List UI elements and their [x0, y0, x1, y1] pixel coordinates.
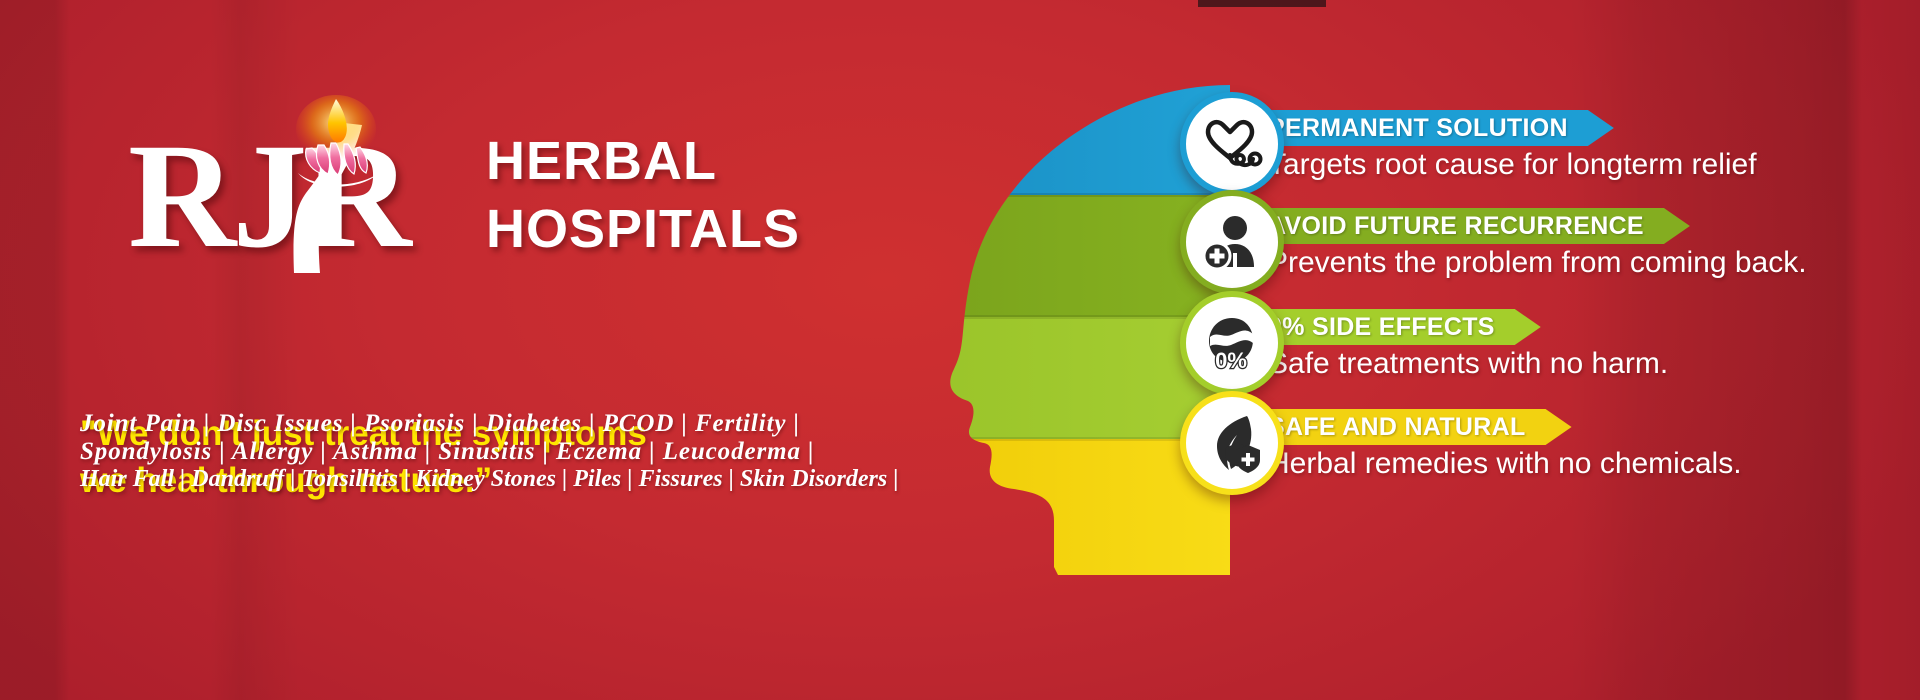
logo-mark: RJR	[128, 95, 473, 270]
brand-name: HERBAL HOSPITALS	[486, 127, 800, 263]
conditions-line-1: Joint Pain | Disc Issues | Psoriasis | D…	[80, 410, 800, 438]
leaf-shield-plus-icon	[1203, 413, 1261, 473]
feature-subtitle: Herbal remedies with no chemicals.	[1268, 447, 1742, 481]
heart-stethoscope-icon	[1200, 115, 1264, 173]
svg-text:0%: 0%	[1215, 348, 1247, 372]
conditions-line-3: Hair Fall | Dandruff | Tonsillitis | Kid…	[80, 466, 899, 493]
brand-logo: RJR	[128, 95, 828, 275]
feature-title-ribbon: AVOID FUTURE RECURRENCE	[1246, 208, 1690, 244]
feature-badge	[1180, 92, 1284, 196]
person-add-plus-icon	[1202, 213, 1262, 271]
feature-title-ribbon: 0% SIDE EFFECTS	[1246, 309, 1541, 345]
banner-root: RJR	[0, 0, 1920, 700]
feature-badge	[1180, 190, 1284, 294]
feature-subtitle: Safe treatments with no harm.	[1268, 347, 1668, 381]
brand-name-line2: HOSPITALS	[486, 195, 800, 263]
top-edge-artifact	[1198, 0, 1326, 7]
feature-subtitle: Targets root cause for longterm relief	[1268, 148, 1757, 182]
feature-subtitle: Prevents the problem from coming back.	[1268, 246, 1807, 280]
conditions-line-2: Spondylosis | Allergy | Asthma | Sinusit…	[80, 438, 814, 466]
brand-name-line1: HERBAL	[486, 127, 800, 195]
feature-badge	[1180, 391, 1284, 495]
feature-title-ribbon: PERMANENT SOLUTION	[1246, 110, 1614, 146]
feature-title-ribbon: SAFE AND NATURAL	[1246, 409, 1572, 445]
pill-zero-percent-icon: 0%	[1201, 314, 1263, 372]
lotus-diya-lamp-icon	[280, 93, 390, 201]
feature-badge: 0%	[1180, 291, 1284, 395]
